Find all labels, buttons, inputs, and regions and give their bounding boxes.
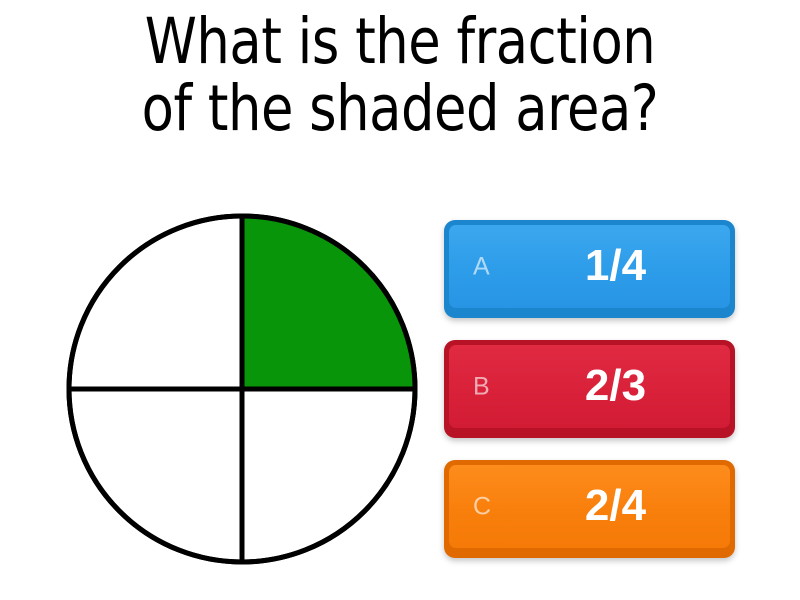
answer-option-c-face: C 2/4 [449, 465, 730, 548]
answer-option-b-text: 2/3 [449, 364, 730, 408]
quiz-slide: What is the fraction of the shaded area?… [0, 0, 800, 600]
answer-option-b-face: B 2/3 [449, 345, 730, 428]
answer-option-a[interactable]: A 1/4 [444, 220, 735, 318]
circle-fraction-diagram [58, 200, 426, 578]
answer-option-b[interactable]: B 2/3 [444, 340, 735, 438]
question-title: What is the fraction of the shaded area? [28, 8, 772, 143]
answer-option-a-text: 1/4 [449, 244, 730, 288]
answer-option-c[interactable]: C 2/4 [444, 460, 735, 558]
answer-option-c-text: 2/4 [449, 484, 730, 528]
answer-option-a-face: A 1/4 [449, 225, 730, 308]
answer-options-list: A 1/4 B 2/3 C 2/4 [441, 218, 739, 566]
